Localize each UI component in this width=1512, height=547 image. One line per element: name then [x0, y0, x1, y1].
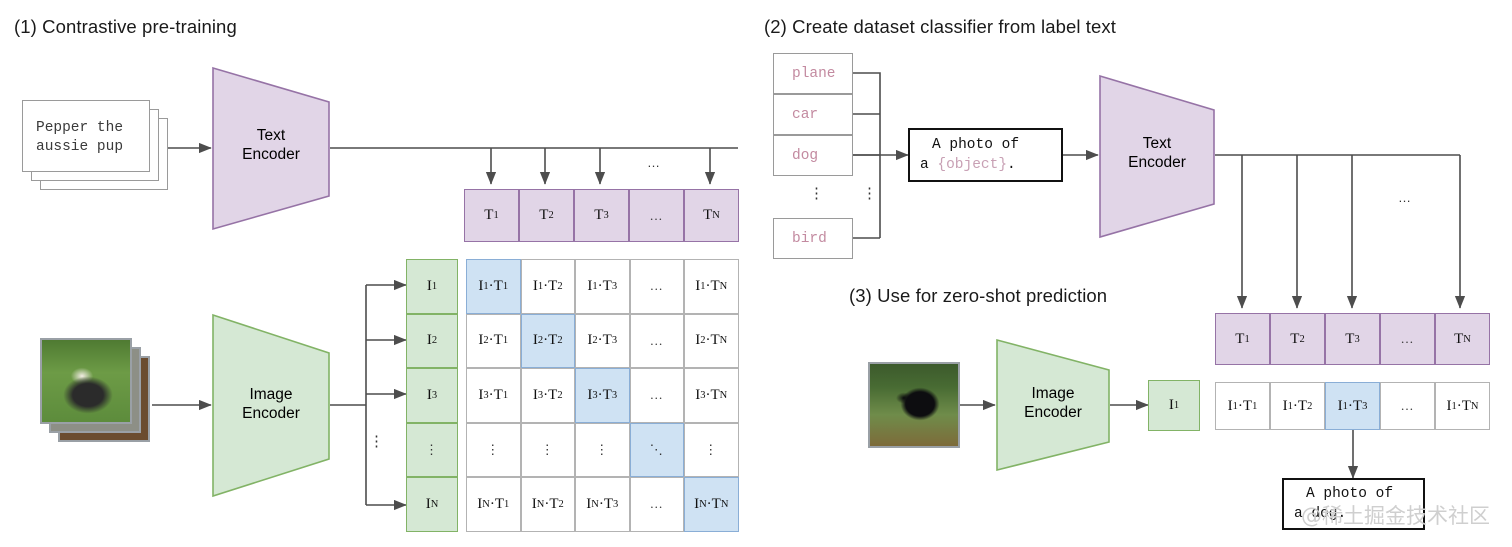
class-label-plane[interactable]: plane: [773, 53, 853, 94]
zeroshot-cell-4: …: [1380, 382, 1435, 430]
training-image-stack: [40, 338, 160, 458]
image-bus-ellipsis: ⋮: [369, 440, 384, 444]
prompt-period: .: [1007, 157, 1016, 173]
similarity-cell-r3-c3: I3·T3: [575, 368, 630, 423]
text-embedding-cell-p2-5: TN: [1435, 313, 1490, 365]
watermark: @稀土掘金技术社区: [1301, 500, 1490, 530]
class-label-dog[interactable]: dog: [773, 135, 853, 176]
similarity-cell-r5-c2: IN·T2: [521, 477, 576, 532]
training-image-puppy-photo: [40, 338, 132, 424]
similarity-cell-r4-c2: ⋮: [521, 423, 576, 478]
text-encoder-p1-line1: Text: [211, 126, 331, 145]
similarity-cell-r2-c3: I2·T3: [575, 314, 630, 369]
zeroshot-cell-2: I1·T2: [1270, 382, 1325, 430]
text-embedding-cell-5: TN: [684, 189, 739, 242]
prompt-line-1: A photo of: [910, 135, 1061, 155]
image-embedding-cell-2: I2: [406, 314, 458, 369]
class-label-bird[interactable]: bird: [773, 218, 853, 259]
text-encoder-p1-line2: Encoder: [211, 145, 331, 164]
similarity-cell-r5-c3: IN·T3: [575, 477, 630, 532]
prompt-template-box[interactable]: A photo of a {object}.: [908, 128, 1063, 182]
panel-2-title: (2) Create dataset classifier from label…: [764, 16, 1116, 38]
similarity-cell-r3-c1: I3·T1: [466, 368, 521, 423]
query-image-photo: [868, 362, 960, 448]
caption-card-stack: Pepper the aussie pup: [22, 100, 172, 195]
similarity-cell-r2-c5: I2·TN: [684, 314, 739, 369]
similarity-cell-r5-c1: IN·T1: [466, 477, 521, 532]
image-encoder-p3-line2: Encoder: [995, 403, 1111, 422]
prompt-line-2: a {object}.: [910, 155, 1061, 175]
prompt-object-slot: {object}: [937, 157, 1007, 173]
text-bus-ellipsis: …: [647, 155, 661, 170]
image-embedding-cell-1: I1: [406, 259, 458, 314]
image-encoder-p3-line1: Image: [995, 384, 1111, 403]
similarity-cell-r4-c4: ⋱: [630, 423, 685, 478]
text-encoder-p2-line1: Text: [1098, 134, 1216, 153]
class-label-car[interactable]: car: [773, 94, 853, 135]
similarity-cell-r1-c4: …: [630, 259, 685, 314]
image-embedding-cell-5: IN: [406, 477, 458, 532]
text-bus-ellipsis-p2: …: [1398, 190, 1412, 205]
image-encoder-p1[interactable]: Image Encoder: [211, 313, 331, 498]
text-encoder-p2-line2: Encoder: [1098, 153, 1216, 172]
similarity-cell-r2-c1: I2·T1: [466, 314, 521, 369]
similarity-cell-r3-c2: I3·T2: [521, 368, 576, 423]
class-label-ellipsis: ⋮: [809, 192, 824, 196]
similarity-cell-r5-c4: …: [630, 477, 685, 532]
text-embedding-cell-p2-2: T2: [1270, 313, 1325, 365]
similarity-cell-r4-c1: ⋮: [466, 423, 521, 478]
image-embedding-cell-4: ⋮: [406, 423, 458, 478]
similarity-cell-r2-c2: I2·T2: [521, 314, 576, 369]
prompt-article: a: [920, 157, 937, 173]
similarity-cell-r1-c3: I1·T3: [575, 259, 630, 314]
image-embedding-cell-3: I3: [406, 368, 458, 423]
image-encoder-p3[interactable]: Image Encoder: [995, 338, 1111, 472]
zeroshot-cell-3: I1·T3: [1325, 382, 1380, 430]
query-embedding-cell: I1: [1148, 380, 1200, 431]
similarity-cell-r5-c5: IN·TN: [684, 477, 739, 532]
caption-card-line-2: aussie pup: [36, 138, 123, 157]
text-encoder-p1[interactable]: Text Encoder: [211, 66, 331, 231]
text-embedding-cell-p2-1: T1: [1215, 313, 1270, 365]
similarity-cell-r1-c1: I1·T1: [466, 259, 521, 314]
similarity-cell-r4-c3: ⋮: [575, 423, 630, 478]
similarity-cell-r1-c2: I1·T2: [521, 259, 576, 314]
similarity-cell-r3-c5: I3·TN: [684, 368, 739, 423]
zeroshot-cell-1: I1·T1: [1215, 382, 1270, 430]
text-embedding-cell-2: T2: [519, 189, 574, 242]
similarity-cell-r2-c4: …: [630, 314, 685, 369]
panel-3-title: (3) Use for zero-shot prediction: [849, 285, 1107, 307]
caption-card-line-1: Pepper the: [36, 119, 123, 138]
text-embedding-cell-1: T1: [464, 189, 519, 242]
similarity-cell-r3-c4: …: [630, 368, 685, 423]
text-encoder-p2[interactable]: Text Encoder: [1098, 74, 1216, 239]
similarity-cell-r1-c5: I1·TN: [684, 259, 739, 314]
image-encoder-p1-line2: Encoder: [211, 404, 331, 423]
query-image: [868, 362, 960, 448]
text-embedding-cell-3: T3: [574, 189, 629, 242]
similarity-cell-r4-c5: ⋮: [684, 423, 739, 478]
image-encoder-p1-line1: Image: [211, 385, 331, 404]
text-embedding-cell-p2-4: …: [1380, 313, 1435, 365]
zeroshot-cell-5: I1·TN: [1435, 382, 1490, 430]
text-embedding-cell-4: …: [629, 189, 684, 242]
panel-1-title: (1) Contrastive pre-training: [14, 16, 237, 38]
text-embedding-cell-p2-3: T3: [1325, 313, 1380, 365]
class-label-bus-ellipsis: ⋮: [862, 192, 877, 196]
